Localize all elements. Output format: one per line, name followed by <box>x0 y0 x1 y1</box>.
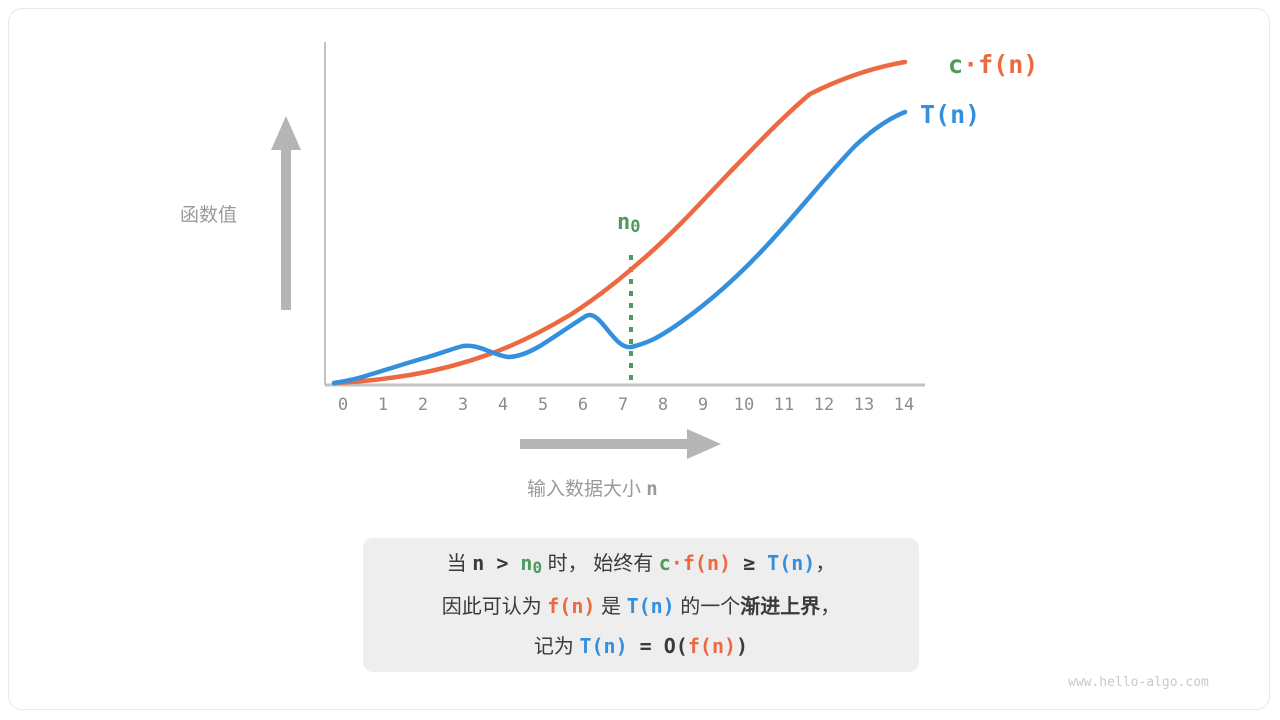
cap3-close: ) <box>736 634 748 658</box>
cap1-dot: · <box>671 551 683 575</box>
cap1-tn: T(n) <box>767 551 815 575</box>
x-tick-14: 14 <box>889 395 919 415</box>
caption-line-1: 当 n > n0 时， 始终有 c·f(n) ≥ T(n)， <box>447 544 836 587</box>
x-tick-4: 4 <box>488 395 518 415</box>
n0-subscript: 0 <box>630 217 640 237</box>
x-axis-label-var: n <box>646 478 657 500</box>
caption-panel: 当 n > n0 时， 始终有 c·f(n) ≥ T(n)， 因此可认为 f(n… <box>363 538 919 672</box>
x-tick-5: 5 <box>528 395 558 415</box>
x-tick-11: 11 <box>769 395 799 415</box>
y-axis-arrow-icon <box>271 116 301 310</box>
x-tick-12: 12 <box>809 395 839 415</box>
caption-line-2: 因此可认为 f(n) 是 T(n) 的一个渐进上界， <box>442 587 841 627</box>
cap2-b: 是 <box>595 596 626 618</box>
x-tick-7: 7 <box>608 395 638 415</box>
x-tick-0: 0 <box>328 395 358 415</box>
cap2-bold: 渐进上界 <box>740 596 820 618</box>
cap3-bigo: O( <box>664 634 688 658</box>
cap3-fn: f(n) <box>688 634 736 658</box>
cap1-b: 时， 始终有 <box>542 553 659 575</box>
x-tick-2: 2 <box>408 395 438 415</box>
x-tick-10: 10 <box>729 395 759 415</box>
cap1-fn: f(n) <box>683 551 731 575</box>
curve-t-n <box>334 112 905 383</box>
x-tick-1: 1 <box>368 395 398 415</box>
cap1-a: 当 <box>447 553 473 575</box>
legend-c: c <box>948 50 963 79</box>
cap1-gt: > <box>484 551 520 575</box>
caption-line-3: 记为 T(n) = O(f(n)) <box>534 627 748 667</box>
cap3-a: 记为 <box>534 636 580 658</box>
cap2-tn: T(n) <box>627 594 675 618</box>
cap1-c: c <box>659 551 671 575</box>
legend-label-c-fn: c·f(n) <box>948 50 1038 79</box>
figure-canvas: 函数值 输入数据大小 n 0 1 2 3 4 5 6 7 8 9 10 11 1… <box>0 0 1280 720</box>
legend-label-t-n: T(n) <box>920 100 980 129</box>
x-tick-9: 9 <box>688 395 718 415</box>
cap1-n: n <box>472 551 484 575</box>
cap1-comma: ， <box>815 553 835 575</box>
legend-dot: · <box>963 50 978 79</box>
cap1-n0sub: 0 <box>532 558 542 577</box>
n0-base: n <box>617 210 630 235</box>
cap1-ge: ≥ <box>731 551 767 575</box>
cap3-eq: = <box>628 634 664 658</box>
legend-fn: f(n) <box>978 50 1038 79</box>
cap2-fn: f(n) <box>547 594 595 618</box>
x-axis-label-text: 输入数据大小 <box>527 479 646 500</box>
x-tick-3: 3 <box>448 395 478 415</box>
cap2-a: 因此可认为 <box>442 596 548 618</box>
x-axis-label: 输入数据大小 n <box>527 474 658 501</box>
x-tick-8: 8 <box>648 395 678 415</box>
cap3-tn: T(n) <box>579 634 627 658</box>
cap2-c: 的一个 <box>675 596 741 618</box>
n0-marker-label: n0 <box>617 210 641 237</box>
cap2-comma: ， <box>820 596 840 618</box>
y-axis-label: 函数值 <box>180 200 237 227</box>
watermark: www.hello-algo.com <box>1068 675 1209 690</box>
x-axis-arrow-icon <box>520 429 721 459</box>
cap1-n0: n <box>520 551 532 575</box>
x-tick-6: 6 <box>568 395 598 415</box>
x-tick-13: 13 <box>849 395 879 415</box>
